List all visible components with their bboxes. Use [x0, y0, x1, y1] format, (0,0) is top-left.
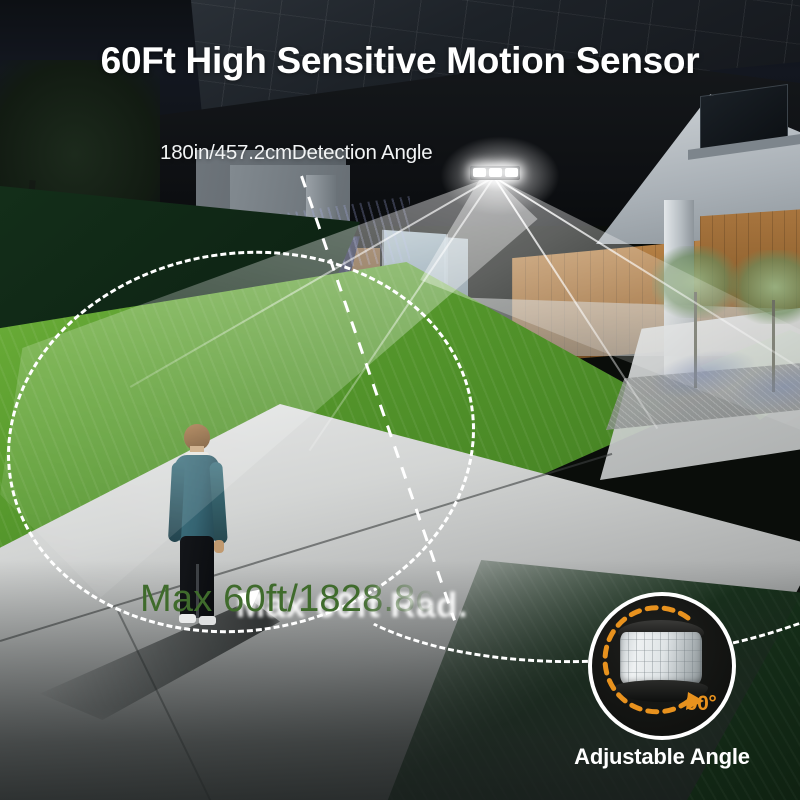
led-panel: [505, 168, 518, 177]
angle-degrees-label: 90°: [686, 692, 716, 716]
page-title: 60Ft High Sensitive Motion Sensor: [0, 40, 800, 82]
range-label: Max 60ft/1828.8c: [140, 578, 435, 621]
detection-angle-label: 180in/457.2cmDetection Angle: [160, 141, 432, 165]
adjustable-angle-inset: 90°: [588, 592, 736, 740]
inset-caption: Adjustable Angle: [556, 744, 768, 770]
led-panel: [489, 168, 502, 177]
product-hero-image: 60Ft High Sensitive Motion Sensor 180in/…: [0, 0, 800, 800]
led-panel: [473, 168, 486, 177]
